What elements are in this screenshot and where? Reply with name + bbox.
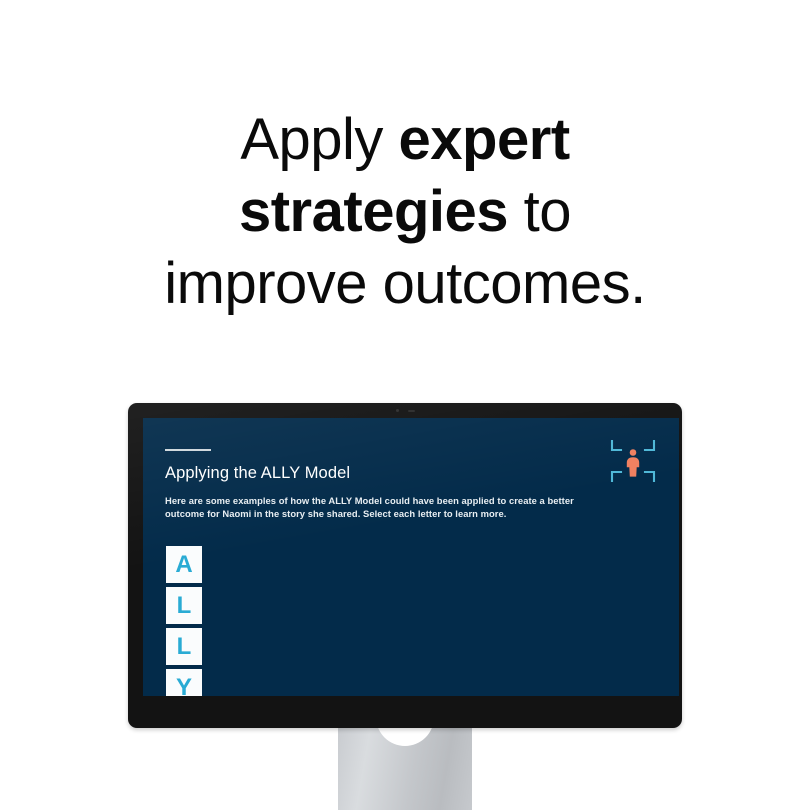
- webcam-sensor-bar: [408, 410, 415, 412]
- slide-body-text: Here are some examples of how the ALLY M…: [165, 494, 585, 521]
- monitor-screen: Applying the ALLY Model Here are some ex…: [143, 418, 679, 696]
- webcam-lens-dot: [396, 409, 399, 412]
- ally-letter-tile-l2[interactable]: L: [166, 628, 202, 665]
- person-focus-icon: [610, 438, 656, 484]
- monitor-illustration: Applying the ALLY Model Here are some ex…: [0, 0, 810, 810]
- title-accent-rule: [165, 449, 211, 451]
- webcam-icon: [388, 408, 422, 413]
- ally-letter-tile-l1[interactable]: L: [166, 587, 202, 624]
- ally-letter-tile-y[interactable]: Y: [166, 669, 202, 696]
- ally-letter-tile-a[interactable]: A: [166, 546, 202, 583]
- monitor-bezel: Applying the ALLY Model Here are some ex…: [128, 403, 682, 728]
- slide-title: Applying the ALLY Model: [165, 462, 350, 484]
- ally-letter-list: A L L Y: [166, 546, 202, 696]
